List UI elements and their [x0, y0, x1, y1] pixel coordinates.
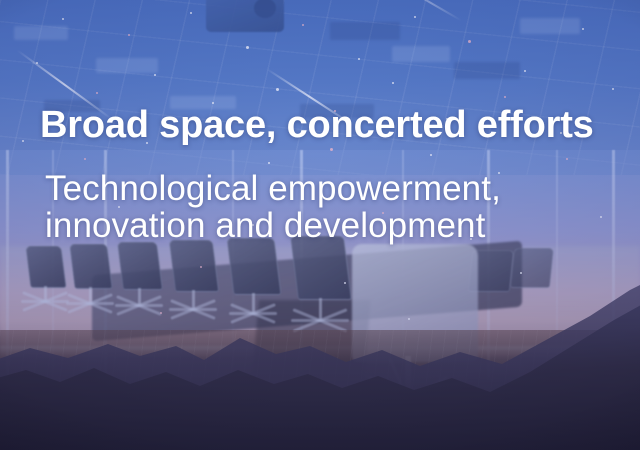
- hero-banner: Broad space, concerted efforts Technolog…: [0, 0, 640, 450]
- vignette-overlay: [0, 0, 640, 450]
